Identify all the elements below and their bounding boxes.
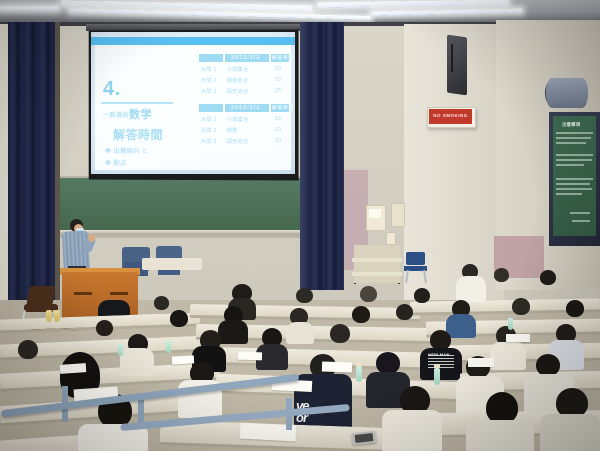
slide-table-cell: 25 — [275, 88, 281, 94]
student-head — [360, 286, 377, 302]
slide-table-cell: 図形総合 — [227, 138, 249, 145]
handout-paper[interactable] — [468, 358, 494, 367]
no-smoking-label: NO SMOKING — [433, 114, 468, 119]
drink-bottle[interactable] — [508, 318, 513, 330]
student-head — [536, 354, 560, 376]
slide-table-cell: 20 — [275, 77, 281, 83]
podium-handle — [110, 292, 128, 295]
drink-bottle[interactable] — [54, 310, 60, 322]
wall-switch-panel[interactable] — [386, 232, 396, 245]
student-head — [376, 352, 400, 374]
notice-text-line — [556, 164, 584, 166]
student-head — [170, 310, 188, 327]
drink-bottle[interactable] — [118, 344, 123, 356]
student-head — [330, 324, 350, 343]
stray-chair-back[interactable] — [26, 286, 56, 306]
student-head — [296, 288, 313, 303]
student-torso — [540, 414, 600, 451]
slide-table-cell: 20 — [275, 66, 281, 72]
curtain-left[interactable] — [8, 22, 60, 312]
slide-table-cell: 図形総合 — [227, 88, 249, 95]
student-head — [512, 298, 530, 315]
notice-text-line — [556, 137, 591, 139]
projector-screen[interactable]: 4. 一般選抜 数学 解答時間 ◆ 出題傾向 と ◆ 配点 2022/2/2 解… — [91, 32, 295, 174]
slide-table-header-cell — [199, 104, 223, 112]
student-torso — [382, 410, 442, 451]
notice-text-line — [556, 178, 593, 180]
air-duct — [546, 78, 588, 108]
slide-table-date: 2022/2/2 — [231, 105, 260, 111]
slide-table-cell: 関数 — [227, 127, 238, 134]
slide-table-cell: 20 — [275, 138, 281, 144]
slide-table-cell: 大問 2 — [201, 77, 217, 84]
slide-header-bar — [91, 37, 295, 45]
student-torso — [446, 314, 476, 338]
lecturer-hand — [88, 234, 95, 242]
slide-table-cell: 大問 1 — [201, 66, 217, 73]
slide-table-time-header: 解答時間 — [272, 105, 294, 111]
handout-paper[interactable] — [172, 355, 194, 364]
slide-table-header-cell — [199, 54, 223, 62]
notice-signature — [570, 212, 590, 214]
student-head — [352, 306, 370, 323]
student-torso — [218, 320, 248, 344]
drink-bottle[interactable] — [356, 366, 362, 382]
student-head — [430, 330, 451, 350]
slide-bullet: ◆ 配点 — [105, 158, 127, 167]
notice-text-line — [556, 183, 590, 185]
student-head — [154, 296, 169, 310]
student-head — [494, 268, 509, 282]
handout-paper[interactable] — [506, 334, 530, 342]
notice-signature — [572, 220, 590, 222]
tshirt-print-lines — [428, 355, 454, 369]
slide-number: 4. — [103, 78, 121, 101]
handout-paper[interactable] — [322, 361, 352, 372]
podium-handle — [74, 292, 92, 295]
drink-bottle[interactable] — [434, 368, 440, 385]
slide-table-cell: 大問 3 — [201, 138, 217, 145]
no-smoking-sign-inner: NO SMOKING — [429, 109, 472, 124]
slide-table-cell: 小問集合 — [227, 116, 249, 123]
student-head — [396, 304, 413, 320]
bottle-cap — [434, 364, 440, 368]
green-chalkboard — [58, 178, 306, 230]
dispenser-label — [369, 209, 381, 218]
slide-table-cell: 大問 1 — [201, 116, 217, 123]
ceiling-light — [0, 6, 58, 10]
slide-table-cell: 15 — [275, 116, 281, 122]
slide-table-cell: 大問 2 — [201, 127, 217, 134]
notice-text-line — [556, 193, 582, 195]
notice-text-line — [556, 188, 592, 190]
lecture-hall-photo: 4. 一般選抜 数学 解答時間 ◆ 出題傾向 と ◆ 配点 2022/2/2 解… — [0, 0, 600, 451]
notice-text-line — [556, 132, 593, 134]
slide-subtitle-large: 数学 — [129, 106, 152, 122]
bottle-cap — [166, 337, 171, 340]
notice-title: 注意事項 — [562, 122, 580, 128]
wall-dispenser[interactable] — [391, 203, 405, 227]
slide-table-cell: 関数総合 — [227, 77, 249, 84]
slide-table-cell: 20 — [275, 127, 281, 133]
notice-text-line — [556, 159, 592, 161]
slide-table-cell: 大問 3 — [201, 88, 217, 95]
wall-speaker — [447, 35, 467, 96]
slide-heading: 解答時間 — [113, 126, 163, 143]
cart-shelf — [352, 258, 402, 262]
cart-shelf — [352, 272, 402, 276]
slide-table-cell: 小問集合 — [227, 66, 249, 73]
slide-bullet: ◆ 出題傾向 と — [105, 146, 148, 155]
curtain-right[interactable] — [310, 22, 344, 290]
student-torso — [466, 420, 534, 451]
student-torso — [490, 342, 526, 370]
notice-board — [553, 116, 596, 236]
drink-bottle[interactable] — [46, 310, 52, 322]
drink-bottle[interactable] — [166, 340, 171, 353]
folding-chair-back[interactable] — [406, 252, 425, 265]
handout-paper[interactable] — [238, 352, 262, 361]
student-head — [540, 270, 556, 285]
handout-paper[interactable] — [60, 363, 87, 374]
equipment-cart — [354, 245, 400, 283]
slide-subtitle-small: 一般選抜 — [103, 110, 129, 119]
slide-rule — [101, 102, 173, 104]
student-head — [96, 320, 113, 336]
student-head — [414, 288, 430, 303]
student-head — [566, 300, 584, 317]
front-desk — [142, 258, 202, 270]
bottle-cap — [356, 362, 362, 366]
student-head — [18, 340, 38, 359]
notice-text-line — [556, 154, 593, 156]
student-torso — [456, 276, 486, 302]
student-torso — [286, 322, 314, 344]
notice-text-line — [556, 142, 586, 144]
slide-table-date: 2022/2/2 — [231, 55, 260, 61]
student-torso — [120, 348, 154, 376]
slide-table-time-header: 解答時間 — [272, 55, 294, 61]
speaker-slot — [451, 44, 453, 72]
